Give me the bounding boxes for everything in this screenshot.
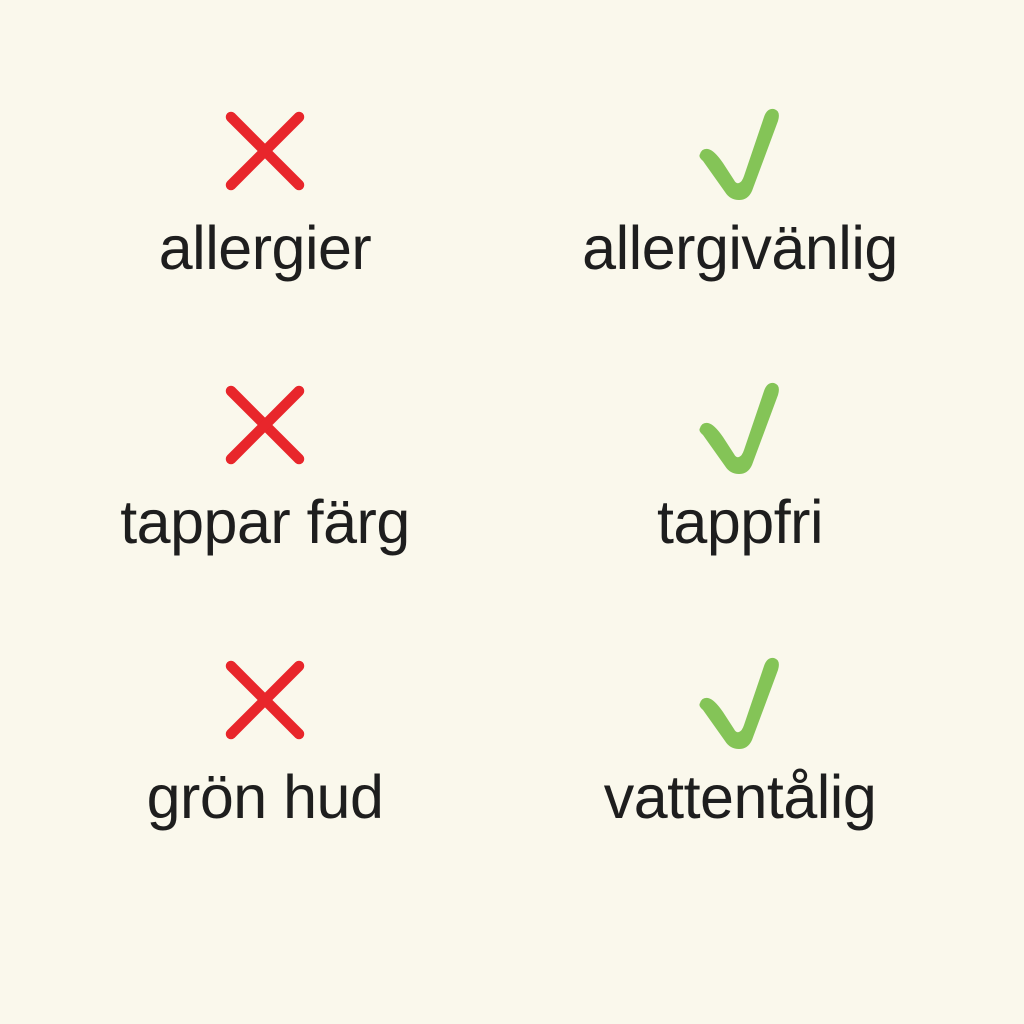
positive-label: tappfri [657, 492, 823, 553]
cross-icon [226, 370, 304, 480]
positive-cell-color-fastness: tappfri [512, 370, 1024, 640]
cross-icon [226, 96, 304, 206]
check-icon [692, 96, 788, 206]
negative-cell-skin-staining: grön hud [0, 645, 512, 915]
check-icon [692, 645, 788, 755]
negative-cell-color-fastness: tappar färg [0, 370, 512, 640]
positive-cell-allergy: allergivänlig [512, 96, 1024, 366]
positive-cell-skin-staining: vattentålig [512, 645, 1024, 915]
check-icon [692, 370, 788, 480]
positive-label: allergivänlig [582, 218, 898, 279]
comparison-row: allergier allergivänlig [0, 96, 1024, 366]
comparison-row: tappar färg tappfri [0, 370, 1024, 640]
negative-label: grön hud [147, 767, 384, 828]
negative-label: allergier [159, 218, 372, 279]
comparison-row: grön hud vattentålig [0, 645, 1024, 915]
negative-cell-allergy: allergier [0, 96, 512, 366]
negative-label: tappar färg [120, 492, 410, 553]
cross-icon [226, 645, 304, 755]
positive-label: vattentålig [604, 767, 877, 828]
comparison-board: allergier allergivänlig tappar färg [0, 0, 1024, 1024]
